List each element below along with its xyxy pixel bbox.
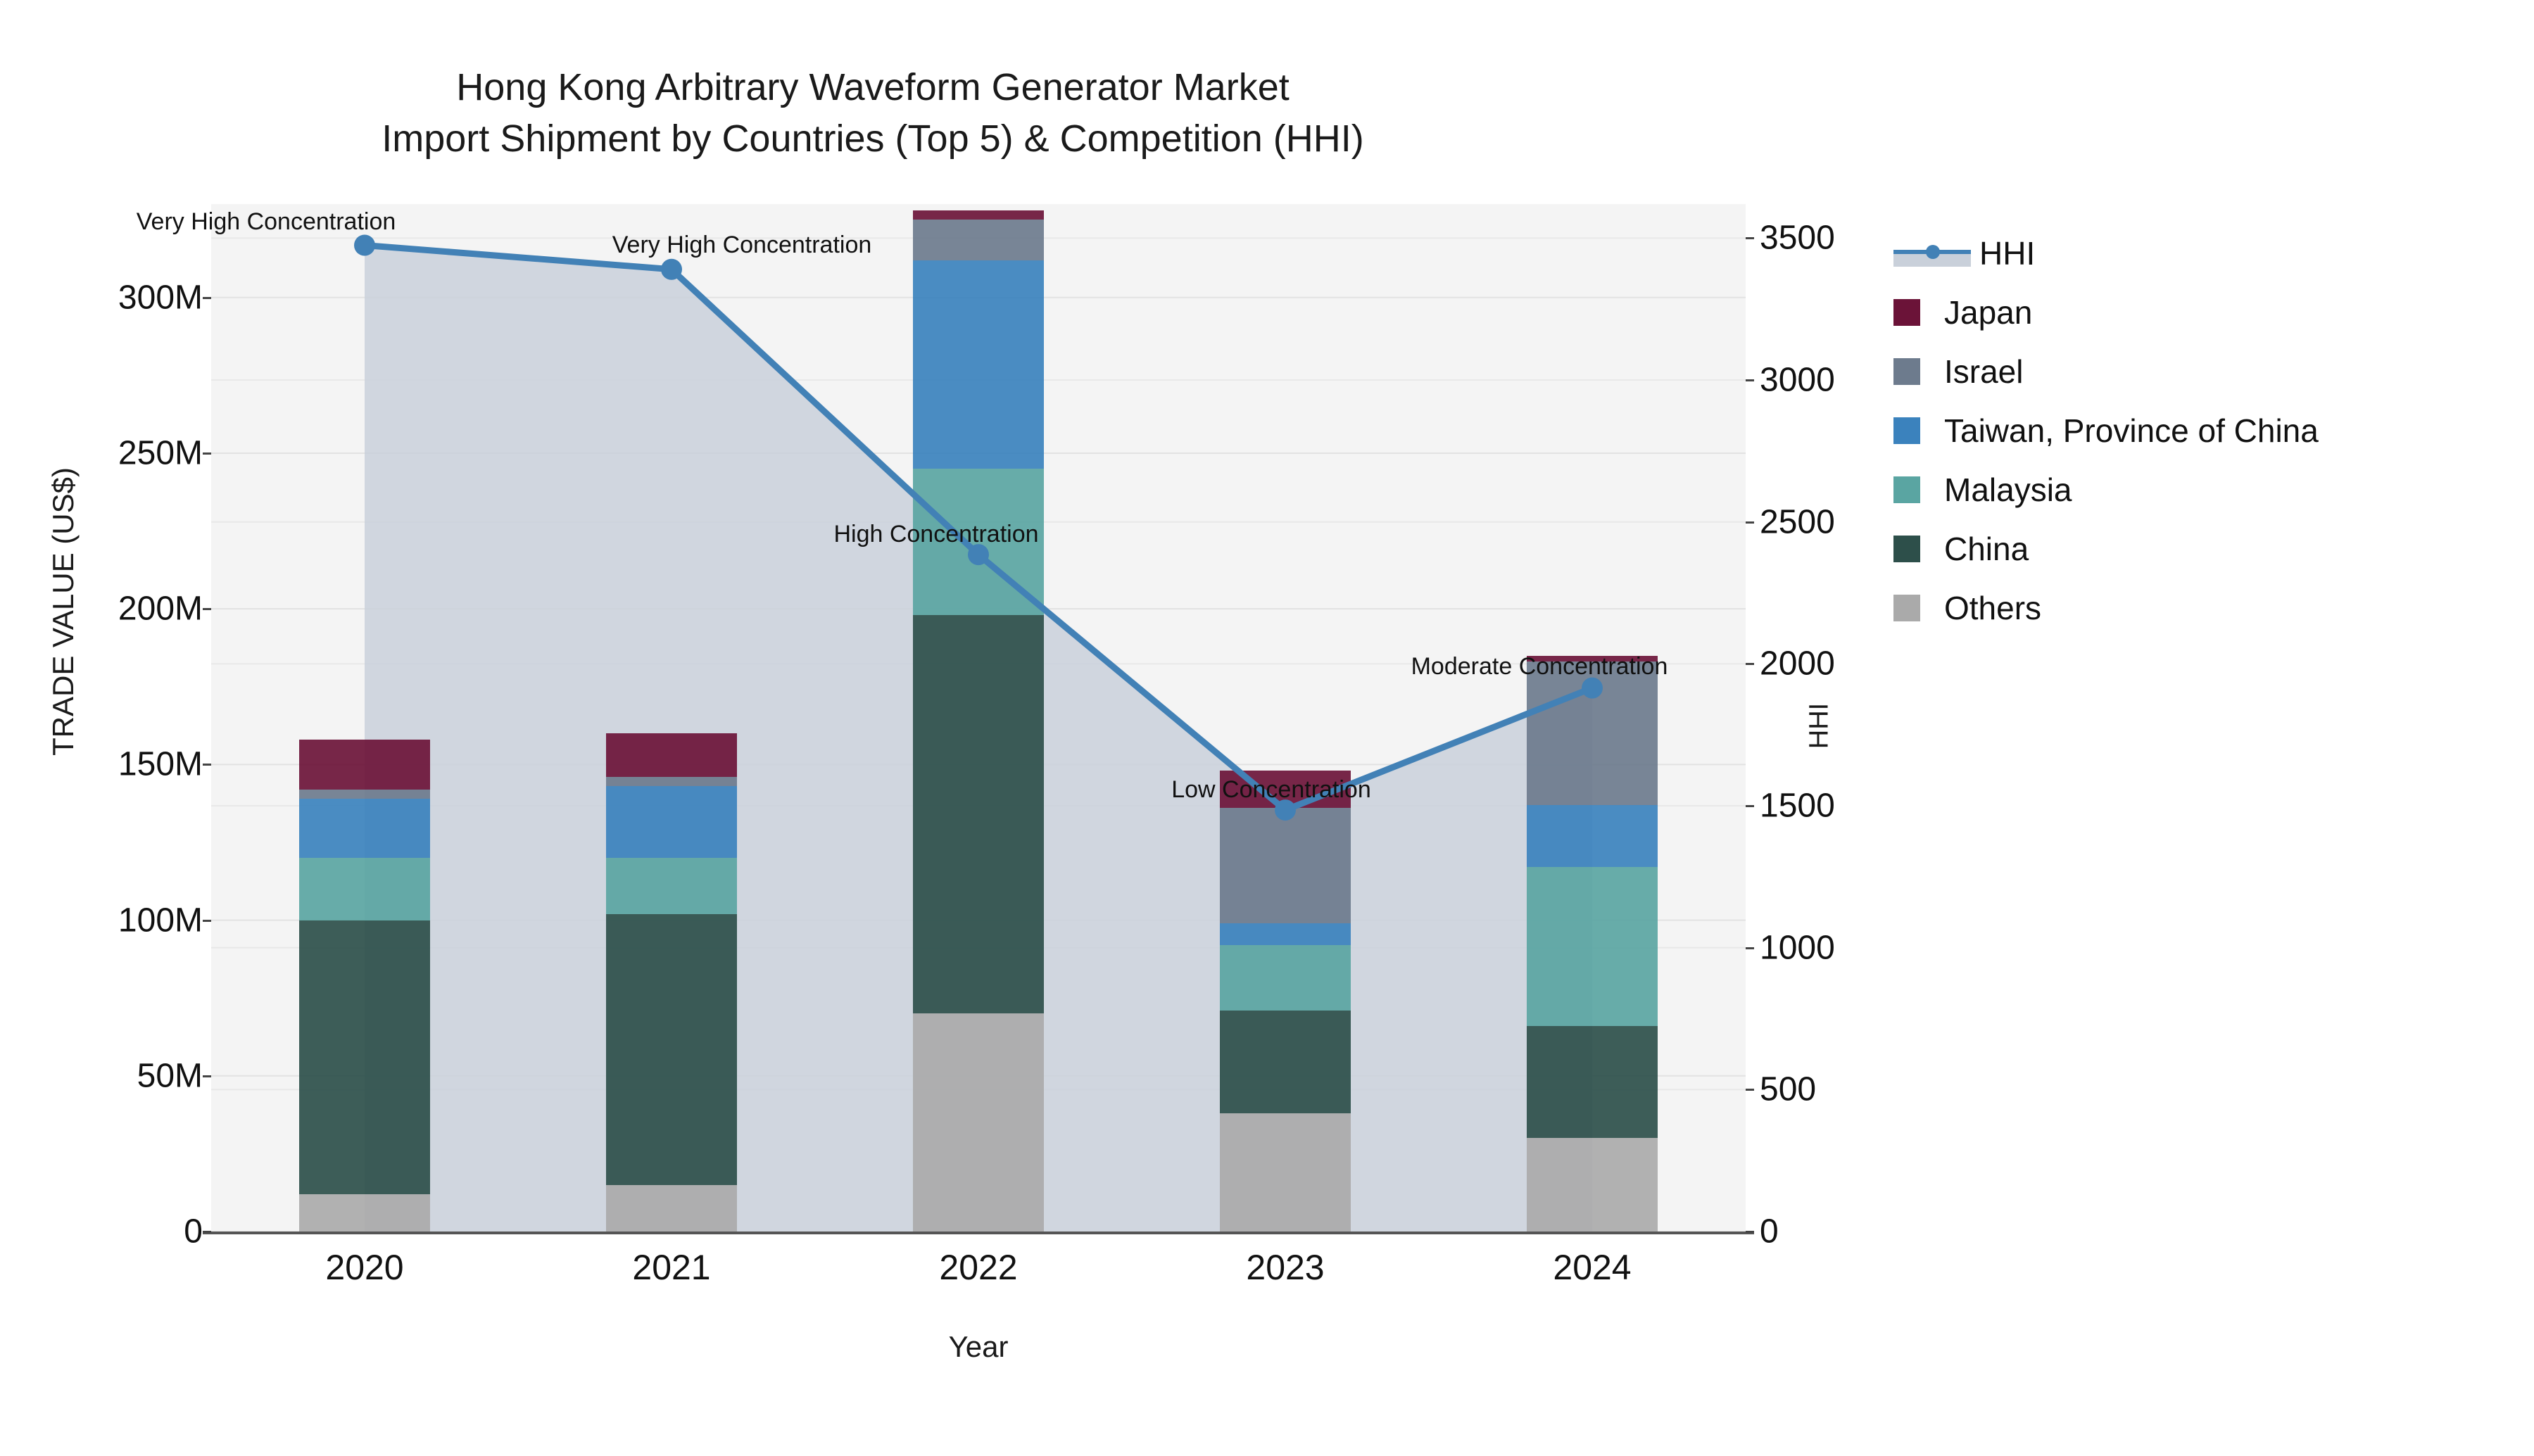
x-tick-label: 2020 xyxy=(325,1247,403,1288)
y-tick-mark-right xyxy=(1746,521,1754,524)
legend-item[interactable]: Japan xyxy=(1893,283,2513,342)
x-tick-label: 2021 xyxy=(632,1247,710,1288)
y-tick-label-right: 0 xyxy=(1760,1213,1779,1251)
x-tick-label: 2022 xyxy=(939,1247,1017,1288)
y-tick-mark-right xyxy=(1746,237,1754,239)
legend-label: China xyxy=(1944,533,2029,565)
y-tick-label-left: 50M xyxy=(137,1056,203,1095)
x-axis-label: Year xyxy=(211,1330,1746,1364)
legend-item-hhi[interactable]: HHI xyxy=(1893,224,2513,283)
y-tick-label-left: 200M xyxy=(118,590,203,628)
legend-swatch-icon xyxy=(1893,536,1920,562)
legend-swatch-icon xyxy=(1893,595,1920,621)
legend-item[interactable]: Malaysia xyxy=(1893,460,2513,519)
y-tick-label-left: 150M xyxy=(118,745,203,784)
y-tick-mark-left xyxy=(203,1075,211,1077)
chart-title-line-2: Import Shipment by Countries (Top 5) & C… xyxy=(0,113,1746,165)
hhi-line-series xyxy=(211,204,1746,1232)
hhi-annotation: High Concentration xyxy=(833,521,1038,548)
y-tick-label-right: 3000 xyxy=(1760,361,1835,400)
legend-label: Israel xyxy=(1944,355,2023,388)
y-axis-label-left: TRADE VALUE (US$) xyxy=(46,0,80,1456)
x-tick-label: 2023 xyxy=(1246,1247,1324,1288)
legend-item[interactable]: China xyxy=(1893,519,2513,578)
legend-swatch-icon xyxy=(1893,358,1920,385)
y-tick-mark-right xyxy=(1746,663,1754,665)
y-tick-label-right: 1000 xyxy=(1760,928,1835,967)
y-tick-label-left: 300M xyxy=(118,278,203,317)
legend-swatch-icon xyxy=(1893,299,1920,326)
y-tick-mark-left xyxy=(203,452,211,455)
hhi-annotation: Very High Concentration xyxy=(612,232,872,259)
hhi-annotation: Very High Concentration xyxy=(137,208,396,236)
y-tick-mark-left xyxy=(203,608,211,610)
legend-item[interactable]: Taiwan, Province of China xyxy=(1893,401,2513,460)
chart-title-line-1: Hong Kong Arbitrary Waveform Generator M… xyxy=(0,62,1746,113)
legend-label: Japan xyxy=(1944,296,2032,329)
y-tick-mark-right xyxy=(1746,947,1754,949)
legend-swatch-icon xyxy=(1893,476,1920,503)
y-tick-label-right: 2000 xyxy=(1760,645,1835,683)
y-tick-mark-left xyxy=(203,920,211,922)
y-tick-label-left: 0 xyxy=(184,1213,203,1251)
y-tick-mark-left xyxy=(203,1231,211,1233)
y-tick-label-right: 1500 xyxy=(1760,787,1835,825)
y-tick-mark-left xyxy=(203,297,211,299)
hhi-annotation: Low Concentration xyxy=(1171,776,1371,804)
legend-label: Taiwan, Province of China xyxy=(1944,414,2319,447)
y-tick-mark-right xyxy=(1746,1089,1754,1091)
hhi-annotation: Moderate Concentration xyxy=(1411,653,1668,680)
x-axis-line xyxy=(203,1232,1754,1234)
plot-area xyxy=(211,204,1746,1232)
y-tick-label-right: 3500 xyxy=(1760,219,1835,258)
legend-item[interactable]: Others xyxy=(1893,578,2513,638)
legend-label: Malaysia xyxy=(1944,474,2072,506)
y-tick-label-right: 2500 xyxy=(1760,502,1835,541)
y-tick-label-right: 500 xyxy=(1760,1070,1816,1109)
legend-label: Others xyxy=(1944,592,2041,624)
y-tick-label-left: 250M xyxy=(118,433,203,472)
hhi-line-icon xyxy=(1893,240,1971,267)
y-tick-label-left: 100M xyxy=(118,901,203,939)
legend-item[interactable]: Israel xyxy=(1893,342,2513,401)
legend-swatch-icon xyxy=(1893,417,1920,444)
legend-label: HHI xyxy=(1979,237,2035,270)
chart-legend[interactable]: HHIJapanIsraelTaiwan, Province of ChinaM… xyxy=(1893,224,2513,638)
y-tick-mark-right xyxy=(1746,1231,1754,1233)
x-tick-label: 2024 xyxy=(1553,1247,1631,1288)
y-tick-mark-left xyxy=(203,764,211,766)
y-tick-mark-right xyxy=(1746,805,1754,807)
chart-title: Hong Kong Arbitrary Waveform Generator M… xyxy=(0,62,1746,165)
y-tick-mark-right xyxy=(1746,379,1754,381)
